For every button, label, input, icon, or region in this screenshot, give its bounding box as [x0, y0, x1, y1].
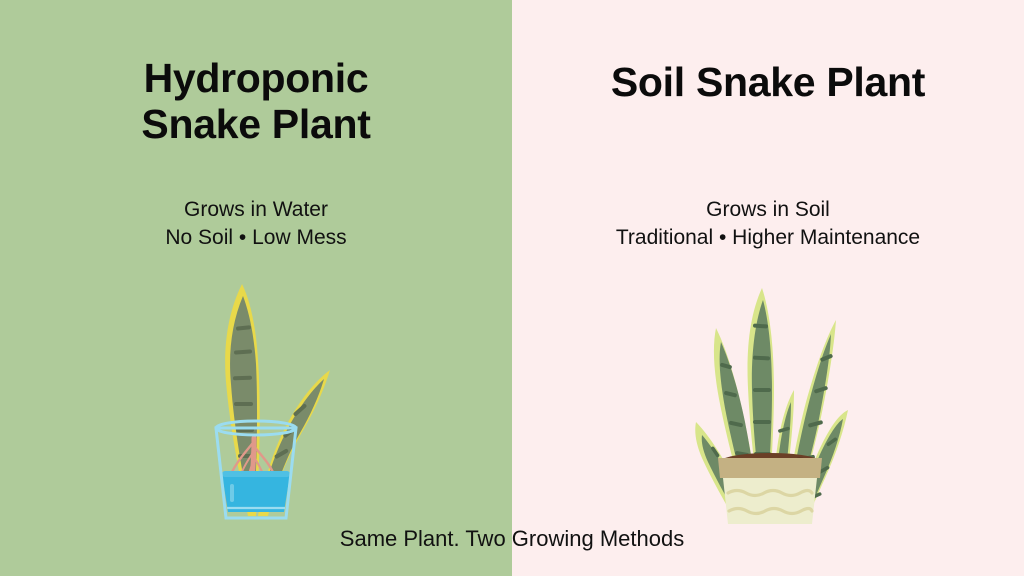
soil-heading: Soil Snake Plant	[512, 60, 1024, 106]
hydroponic-panel: Hydroponic Snake Plant Grows in Water No…	[0, 0, 512, 576]
soil-panel: Soil Snake Plant Grows in Soil Tradition…	[512, 0, 1024, 576]
pot-body	[723, 478, 817, 524]
pot-rim	[718, 458, 822, 478]
soil-subcopy-line2: Traditional • Higher Maintenance	[512, 224, 1024, 252]
hydroponic-subcopy: Grows in Water No Soil • Low Mess	[0, 196, 512, 251]
poster-caption: Same Plant. Two Growing Methods	[0, 526, 1024, 552]
soil-illustration	[512, 272, 1024, 527]
hydroponic-heading-line1: Hydroponic	[0, 56, 512, 102]
hydroponic-heading: Hydroponic Snake Plant	[0, 56, 512, 148]
soil-subcopy-line1: Grows in Soil	[512, 196, 1024, 224]
soil-heading-line1: Soil Snake Plant	[512, 60, 1024, 106]
hydroponic-subcopy-line2: No Soil • Low Mess	[0, 224, 512, 252]
hydroponic-subcopy-line1: Grows in Water	[0, 196, 512, 224]
hydro-water-surface	[222, 471, 290, 477]
hydroponic-illustration	[0, 278, 512, 523]
soil-subcopy: Grows in Soil Traditional • Higher Maint…	[512, 196, 1024, 251]
soil-snake-plant-icon	[668, 272, 868, 527]
hydroponic-snake-plant-icon	[166, 278, 346, 523]
hydro-water-highlight	[230, 484, 234, 502]
comparison-poster: Hydroponic Snake Plant Grows in Water No…	[0, 0, 1024, 576]
hydroponic-heading-line2: Snake Plant	[0, 102, 512, 148]
